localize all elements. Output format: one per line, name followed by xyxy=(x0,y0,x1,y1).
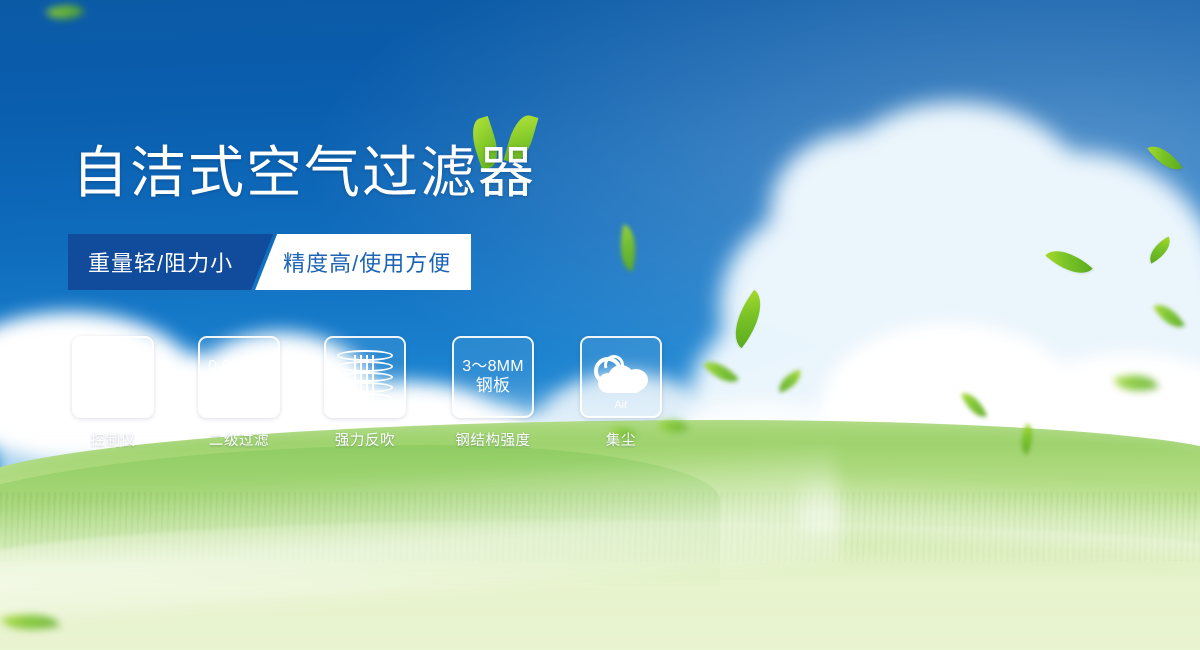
steel-thickness-text: 3～8MM xyxy=(462,358,523,377)
dial-needle xyxy=(109,359,118,395)
floating-leaf xyxy=(721,290,775,349)
dial-gauge-icon: NO OFF xyxy=(83,347,143,407)
feature-item-dust-collection[interactable]: Air 集尘 xyxy=(582,336,660,450)
feature-label: 强力反吹 xyxy=(335,429,395,450)
slogan-right: 精度高/使用方便 xyxy=(255,234,471,290)
cartridge-pleats xyxy=(354,355,376,399)
feature-icon-box: 3～8MM 钢板 xyxy=(452,336,534,418)
floating-leaf xyxy=(1147,138,1182,178)
feature-label: 钢结构强度 xyxy=(455,429,531,450)
feature-item-two-stage-filter[interactable]: 0.6～0.8 MPA 二级过滤 xyxy=(200,336,278,450)
feature-list: NO OFF 控制仪 0.6～0.8 MPA 二级过滤 xyxy=(74,336,660,450)
filter-cartridge-icon xyxy=(337,350,393,404)
floating-leaf xyxy=(1114,366,1159,399)
pressure-unit-text: MPA xyxy=(222,377,256,396)
dial-label-no: NO xyxy=(79,372,89,378)
feature-icon-box: NO OFF xyxy=(72,336,154,418)
floating-leaf xyxy=(775,369,805,392)
floating-leaf xyxy=(613,224,643,272)
feature-label: 集尘 xyxy=(606,429,636,450)
dial-label-off: OFF xyxy=(136,396,149,402)
feature-icon-box: 0.6～0.8 MPA xyxy=(198,336,280,418)
air-cloud-icon: Air xyxy=(592,355,650,399)
hero-banner: 自洁式空气过滤器 重量轻/阻力小 精度高/使用方便 xyxy=(0,0,1200,650)
feature-label: 控制仪 xyxy=(90,429,135,450)
feature-item-strong-blowback[interactable]: 强力反吹 xyxy=(326,336,404,450)
floating-leaf xyxy=(1144,236,1176,263)
feature-label: 二级过滤 xyxy=(209,429,269,450)
floating-leaf xyxy=(45,0,84,29)
feature-icon-box xyxy=(324,336,406,418)
air-label: Air xyxy=(592,399,650,411)
floating-leaf xyxy=(961,388,987,422)
feature-icon-box: Air xyxy=(580,336,662,418)
pressure-range-text: 0.6～0.8 xyxy=(208,358,270,377)
floating-leaf xyxy=(703,353,739,391)
feature-item-steel-strength[interactable]: 3～8MM 钢板 钢结构强度 xyxy=(452,336,534,450)
slogan-badge: 重量轻/阻力小 精度高/使用方便 xyxy=(68,234,471,290)
slogan-left: 重量轻/阻力小 xyxy=(68,234,273,290)
feature-item-controller[interactable]: NO OFF 控制仪 xyxy=(74,336,152,450)
page-title: 自洁式空气过滤器 xyxy=(72,146,536,202)
steel-plate-text: 钢板 xyxy=(476,376,510,396)
floating-leaf xyxy=(1045,239,1092,285)
floating-leaf xyxy=(1153,298,1185,335)
